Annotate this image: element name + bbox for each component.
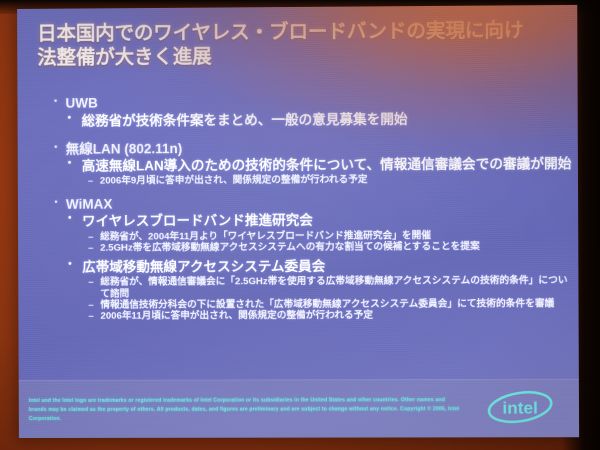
legal-disclaimer: Intel and the Intel logo are trademarks … bbox=[29, 396, 462, 423]
intel-wordmark: intel bbox=[502, 398, 537, 417]
bullet-wlan-1: 高速無線LAN導入のための技術的条件について、情報通信審議会での審議が開始 bbox=[52, 156, 576, 175]
section-heading-wimax: WiMAX bbox=[52, 193, 576, 213]
section-heading-uwb: UWB bbox=[51, 92, 575, 113]
subbullet-wimax-2-1: 総務省が、情報通信審議会に「2.5GHz帯を使用する広帯域移動無線アクセスシステ… bbox=[52, 275, 576, 300]
intel-logo: intel bbox=[484, 387, 557, 427]
bullet-uwb-1: 総務省が技術条件案をまとめ、一般の意見募集を開始 bbox=[52, 110, 576, 129]
presentation-slide: 日本国内でのワイヤレス・ブロードバンドの実現に向け 法整備が大きく進展 UWB … bbox=[17, 5, 579, 438]
bullet-wimax-1: ワイヤレスブロードバンド推進研究会 bbox=[52, 212, 576, 231]
section-heading-wlan: 無線LAN (802.11n) bbox=[52, 138, 576, 158]
slide-footer: Intel and the Intel logo are trademarks … bbox=[19, 379, 579, 438]
subbullet-wimax-2-3: 2006年11月頃に答申が出され、関係規定の整備が行われる予定 bbox=[52, 310, 576, 323]
slide-body: UWB 総務省が技術条件案をまとめ、一般の意見募集を開始 無線LAN (802.… bbox=[51, 92, 576, 323]
bullet-wimax-2: 広帯域移動無線アクセスシステム委員会 bbox=[52, 258, 576, 276]
subbullet-wimax-1-2: 2.5GHz帯を広帯域移動無線アクセスシステムへの有力な割当ての候補とすることを… bbox=[52, 241, 576, 254]
projected-slide-photo: 日本国内でのワイヤレス・ブロードバンドの実現に向け 法整備が大きく進展 UWB … bbox=[0, 0, 600, 450]
slide-title: 日本国内でのワイヤレス・ブロードバンドの実現に向け 法整備が大きく進展 bbox=[37, 19, 561, 70]
